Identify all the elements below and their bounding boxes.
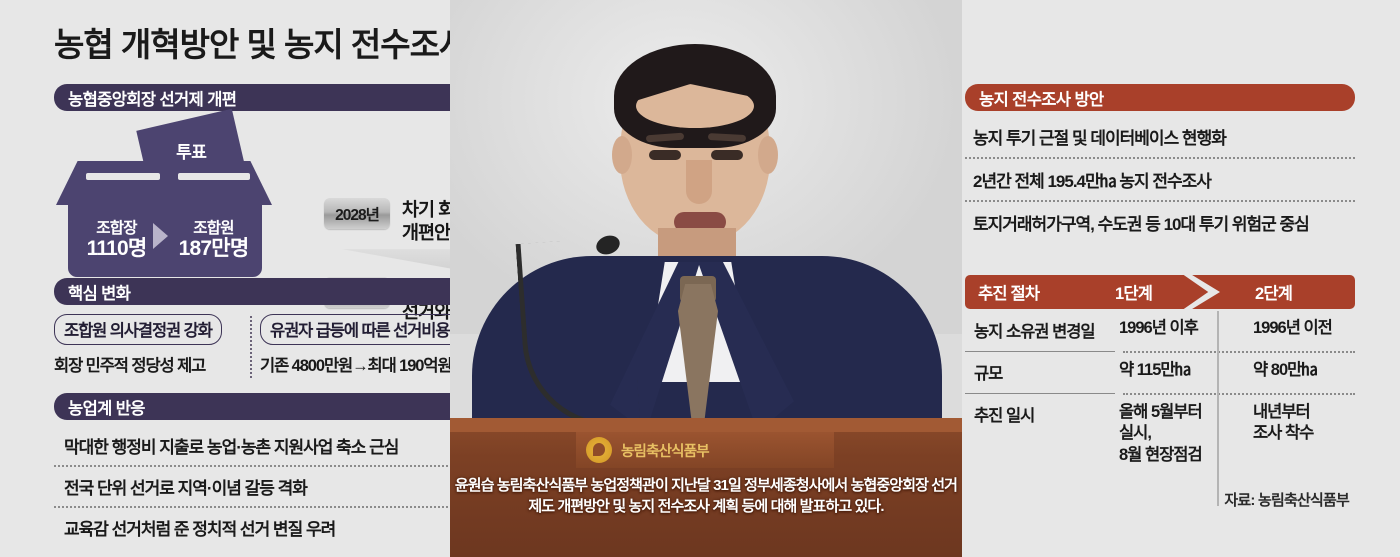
press-briefing-photo: 농림축산식품부 윤원습 농림축산식품부 농업정책관이 지난달 31일 정부세종청… [450,0,962,557]
reactions-section: 농업계 반응 막대한 행정비 지출로 농업·농촌 지원사업 축소 근심 전국 단… [54,393,472,547]
column-header-procedure: 추진 절차 [965,280,1115,304]
section-header-survey-plan: 농지 전수조사 방안 [965,84,1355,111]
podium-nameplate: 농림축산식품부 [576,432,834,468]
procedure-table: 추진 절차 1단계 2단계 농지 소유권 변경일 1996년 이후 1996년 … [965,275,1355,475]
section-header-reactions: 농업계 반응 [54,393,472,420]
table-row: 농지 소유권 변경일 1996년 이후 1996년 이전 [965,309,1355,351]
person-ear-left [612,136,632,174]
ballot-from-value: 1110명 [68,237,165,261]
column-divider [250,316,252,378]
source-attribution: 자료: 농림축산식품부 [965,489,1355,510]
podium: 농림축산식품부 윤원습 농림축산식품부 농업정책관이 지난달 31일 정부세종청… [450,418,962,557]
list-item: 2년간 전체 195.4만㏊ 농지 전수조사 [965,159,1355,200]
row-stage1-value: 약 115만㏊ [1115,360,1227,384]
table-row: 추진 일시 올해 5월부터 실시, 8월 현장점검 내년부터 조사 착수 [965,393,1355,475]
row-stage2-value: 1996년 이전 [1227,318,1355,342]
row-label: 농지 소유권 변경일 [965,318,1115,342]
key-change-column: 조합원 의사결정권 강화 회장 민주적 정당성 제고 [54,314,246,376]
table-row: 규모 약 115만㏊ 약 80만㏊ [965,351,1355,393]
survey-plan-list: 농지 투기 근절 및 데이터베이스 현행화 2년간 전체 195.4만㏊ 농지 … [965,116,1355,243]
table-header-cells: 추진 절차 1단계 2단계 [965,275,1355,309]
survey-plan-section: 농지 전수조사 방안 농지 투기 근절 및 데이터베이스 현행화 2년간 전체 … [965,84,1355,243]
person-ear-right [758,136,778,174]
ballot-to-value: 187만명 [165,237,262,261]
ballot-from-cell: 조합장 1110명 [68,220,165,261]
infographic-root: 농협 개혁방안 및 농지 전수조사 계획 농협중앙회장 선거제 개편 투표 조합… [0,0,1400,557]
row-stage2-value: 내년부터 조사 착수 [1227,402,1355,466]
ballot-slip-label: 투표 [176,138,206,163]
taegeuk-government-emblem-icon [586,437,612,463]
ballot-to-label: 조합원 [165,220,262,237]
reactions-list: 막대한 행정비 지출로 농업·농촌 지원사업 축소 근심 전국 단위 선거로 지… [54,426,472,547]
row-stage1-value: 올해 5월부터 실시, 8월 현장점검 [1115,402,1227,466]
row-label: 규모 [965,360,1115,384]
person-eye-right [711,150,743,160]
row-stage1-value: 1996년 이후 [1115,318,1227,342]
ballot-slot-left [86,173,160,180]
podium-label: 농림축산식품부 [621,440,709,461]
ballot-slot-right [178,173,250,180]
list-item: 농지 투기 근절 및 데이터베이스 현행화 [965,116,1355,157]
row-stage2-value: 약 80만㏊ [1227,360,1355,384]
list-item: 토지거래허가구역, 수도권 등 10대 투기 위험군 중심 [965,202,1355,243]
column-header-stage1: 1단계 [1115,280,1227,304]
person-hair [614,44,776,148]
row-label: 추진 일시 [965,402,1115,466]
list-item: 교육감 선거처럼 준 정치적 선거 변질 우려 [54,508,472,547]
ballot-box-lid [56,161,272,205]
table-header-row: 추진 절차 1단계 2단계 [965,275,1355,309]
list-item: 전국 단위 선거로 지역·이념 갈등 격화 [54,467,472,506]
ballot-from-label: 조합장 [68,220,165,237]
year-badge: 2028년 [324,198,390,229]
key-change-chip: 조합원 의사결정권 강화 [54,314,222,345]
list-item: 막대한 행정비 지출로 농업·농촌 지원사업 축소 근심 [54,426,472,465]
ballot-to-cell: 조합원 187만명 [165,220,262,261]
right-triangle-arrow-icon [153,223,168,249]
podium-top-edge [450,418,962,432]
person-nose [686,160,712,204]
photo-caption: 윤원습 농림축산식품부 농업정책관이 지난달 31일 정부세종청사에서 농협중앙… [450,476,962,517]
person-eye-left [649,150,681,160]
column-header-stage2: 2단계 [1227,280,1355,304]
key-change-subtext: 회장 민주적 정당성 제고 [54,352,246,376]
